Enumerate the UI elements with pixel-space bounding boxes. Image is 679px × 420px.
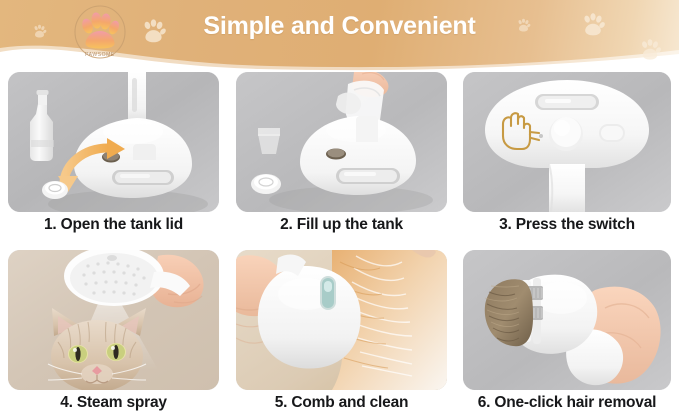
photo-fill-up-tank xyxy=(236,72,447,212)
photo-one-click-hair-removal xyxy=(463,250,671,390)
logo-brand-text: PAWSOME xyxy=(85,52,115,58)
steps-grid: 1. Open the tank lid xyxy=(0,68,679,420)
photo-press-switch xyxy=(463,72,671,212)
step-caption-1: 1. Open the tank lid xyxy=(8,216,219,234)
step-card-2: 2. Fill up the tank xyxy=(236,72,447,242)
step-caption-5: 5. Comb and clean xyxy=(236,394,447,412)
step-card-4: 4. Steam spray xyxy=(8,250,219,420)
step-caption-4: 4. Steam spray xyxy=(8,394,219,412)
step-caption-2: 2. Fill up the tank xyxy=(236,216,447,234)
paw-print-logo: x PAWSOME xyxy=(72,4,128,60)
step-card-3: 3. Press the switch xyxy=(463,72,671,242)
step-caption-6: 6. One-click hair removal xyxy=(463,394,671,412)
infographic-page: x PAWSOME Simple and Convenient xyxy=(0,0,679,420)
step-card-5: 5. Comb and clean xyxy=(236,250,447,420)
photo-comb-and-clean xyxy=(236,250,447,390)
step-card-1: 1. Open the tank lid xyxy=(8,72,219,242)
photo-steam-spray xyxy=(8,250,219,390)
step-card-6: 6. One-click hair removal xyxy=(463,250,671,420)
header-banner: x PAWSOME Simple and Convenient xyxy=(0,0,679,72)
photo-open-tank-lid xyxy=(8,72,219,212)
step-caption-3: 3. Press the switch xyxy=(463,216,671,234)
